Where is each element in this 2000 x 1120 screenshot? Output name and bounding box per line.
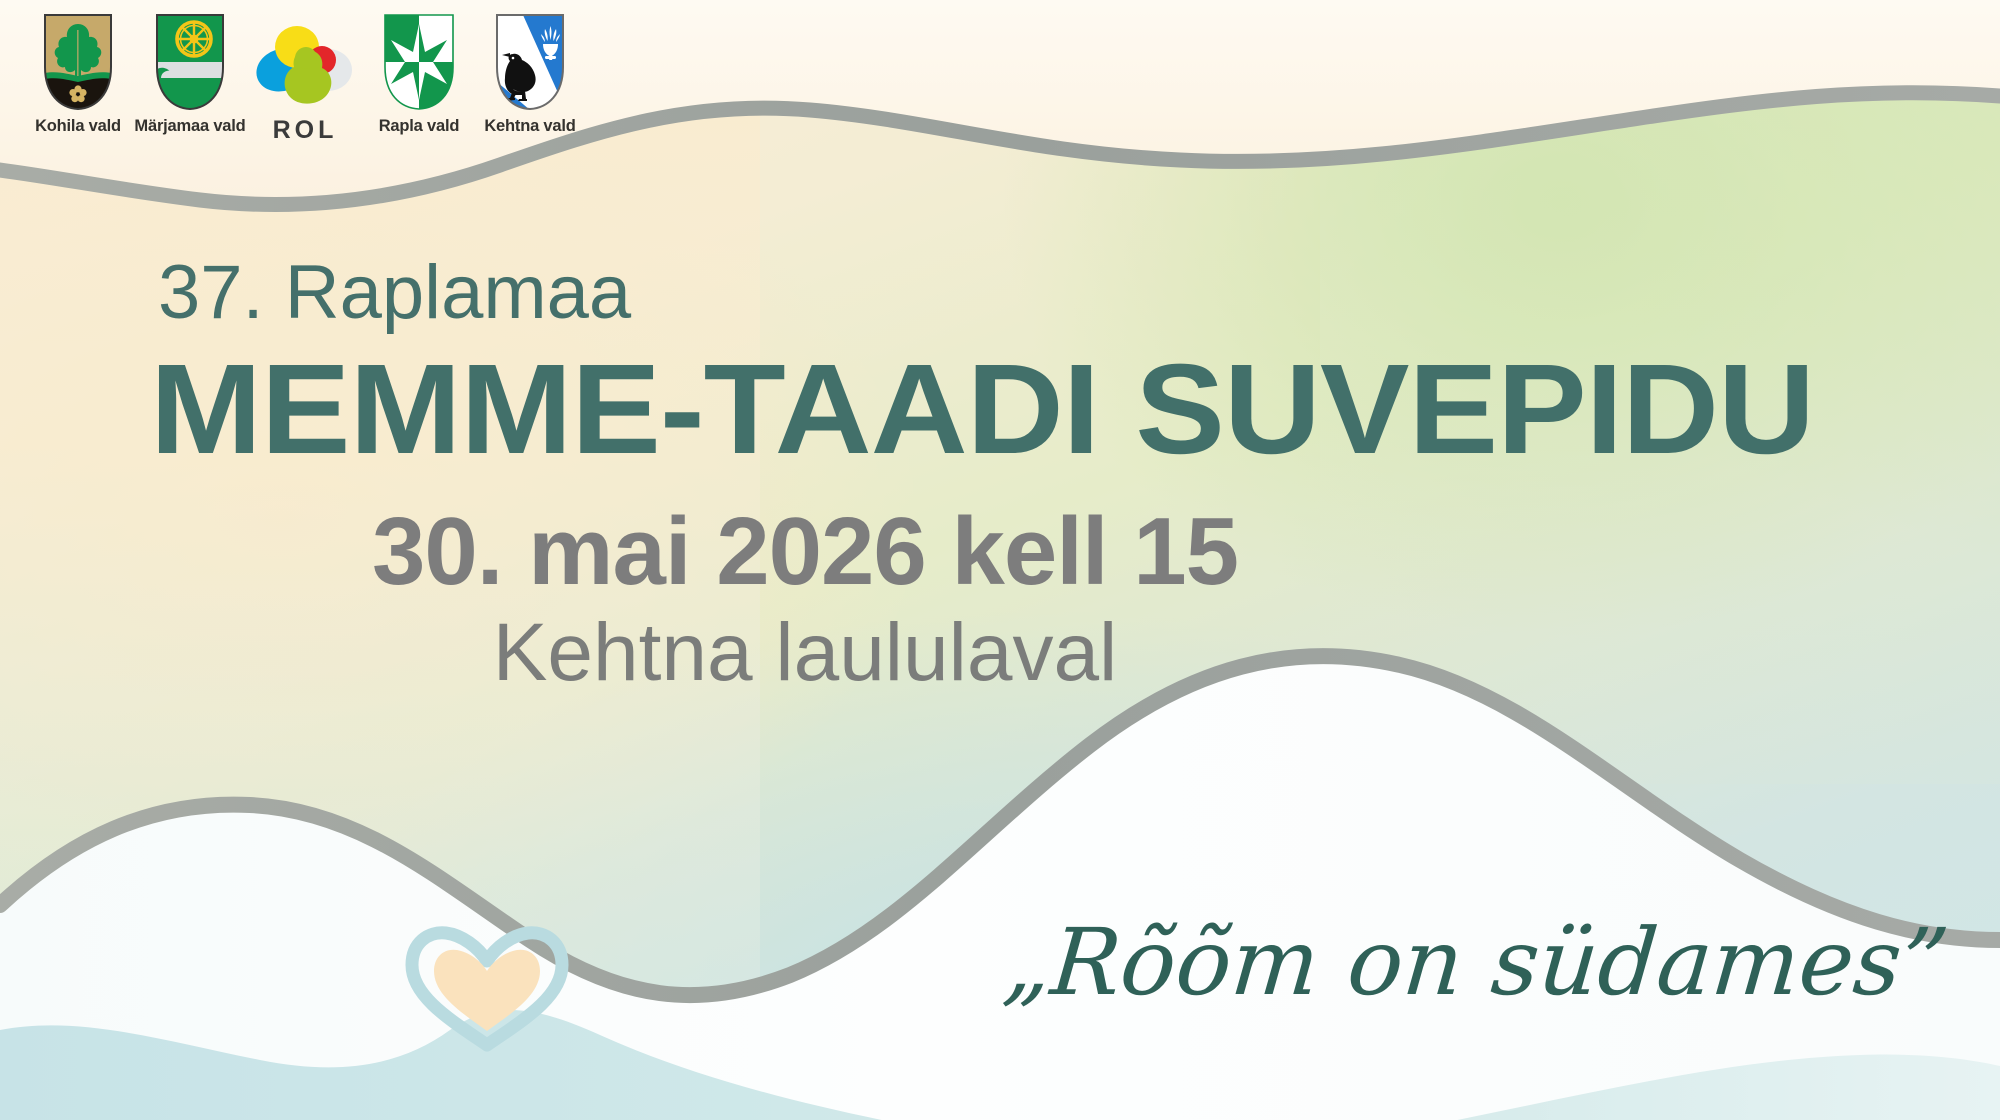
partner-rol[interactable]: ROL [246,12,364,145]
partner-label: Märjamaa vald [134,117,245,136]
partner-label: ROL [273,116,338,145]
partner-logo-band: Kohila vald [0,0,900,150]
partner-kehtna[interactable]: Kehtna vald [474,12,586,136]
poster-text-block: 37. Raplamaa MEMME-TAADI SUVEPIDU 30. ma… [0,255,1880,696]
event-venue: Kehtna laululaval [0,610,1880,696]
rol-logo-icon [252,12,358,112]
poster-canvas: Kohila vald [0,0,2000,1120]
partner-label: Kehtna vald [484,117,575,136]
partner-label: Rapla vald [379,117,460,136]
kohila-coat-of-arms-icon [41,12,115,112]
partner-rapla[interactable]: Rapla vald [364,12,474,136]
heart-motif [392,905,582,1060]
marjamaa-coat-of-arms-icon [153,12,227,112]
rapla-coat-of-arms-icon [382,12,456,112]
partner-marjamaa[interactable]: Märjamaa vald [134,12,246,136]
slogan-text: „Rõõm on südames” [999,909,1953,1016]
kehtna-coat-of-arms-icon [493,12,567,112]
partner-logo-row: Kohila vald [22,12,586,145]
poster-kicker: 37. Raplamaa [158,255,1880,331]
partner-label: Kohila vald [35,117,121,136]
page-title: MEMME-TAADI SUVEPIDU [150,345,1966,476]
event-date: 30. mai 2026 kell 15 [0,502,1880,603]
partner-kohila[interactable]: Kohila vald [22,12,134,136]
bottom-white-shape [0,656,2000,1120]
